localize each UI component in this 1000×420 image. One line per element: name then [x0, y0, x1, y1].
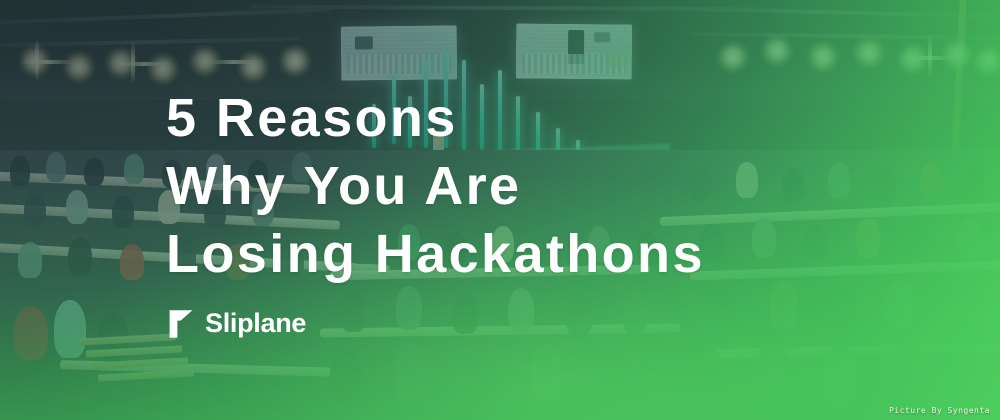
brand-name-label: Sliplane — [205, 308, 306, 339]
title-line-1: 5 Reasons — [166, 84, 705, 152]
photo-credit: Picture By Syngenta — [889, 406, 990, 415]
brand-logo[interactable]: Sliplane — [168, 308, 306, 339]
banner-content: 5 Reasons Why You Are Losing Hackathons … — [0, 0, 1000, 420]
title-line-3: Losing Hackathons — [166, 220, 705, 288]
sliplane-flag-icon — [168, 309, 194, 339]
blog-cover-banner: 5 Reasons Why You Are Losing Hackathons … — [0, 0, 1000, 420]
page-title: 5 Reasons Why You Are Losing Hackathons — [166, 84, 705, 288]
title-line-2: Why You Are — [166, 152, 705, 220]
